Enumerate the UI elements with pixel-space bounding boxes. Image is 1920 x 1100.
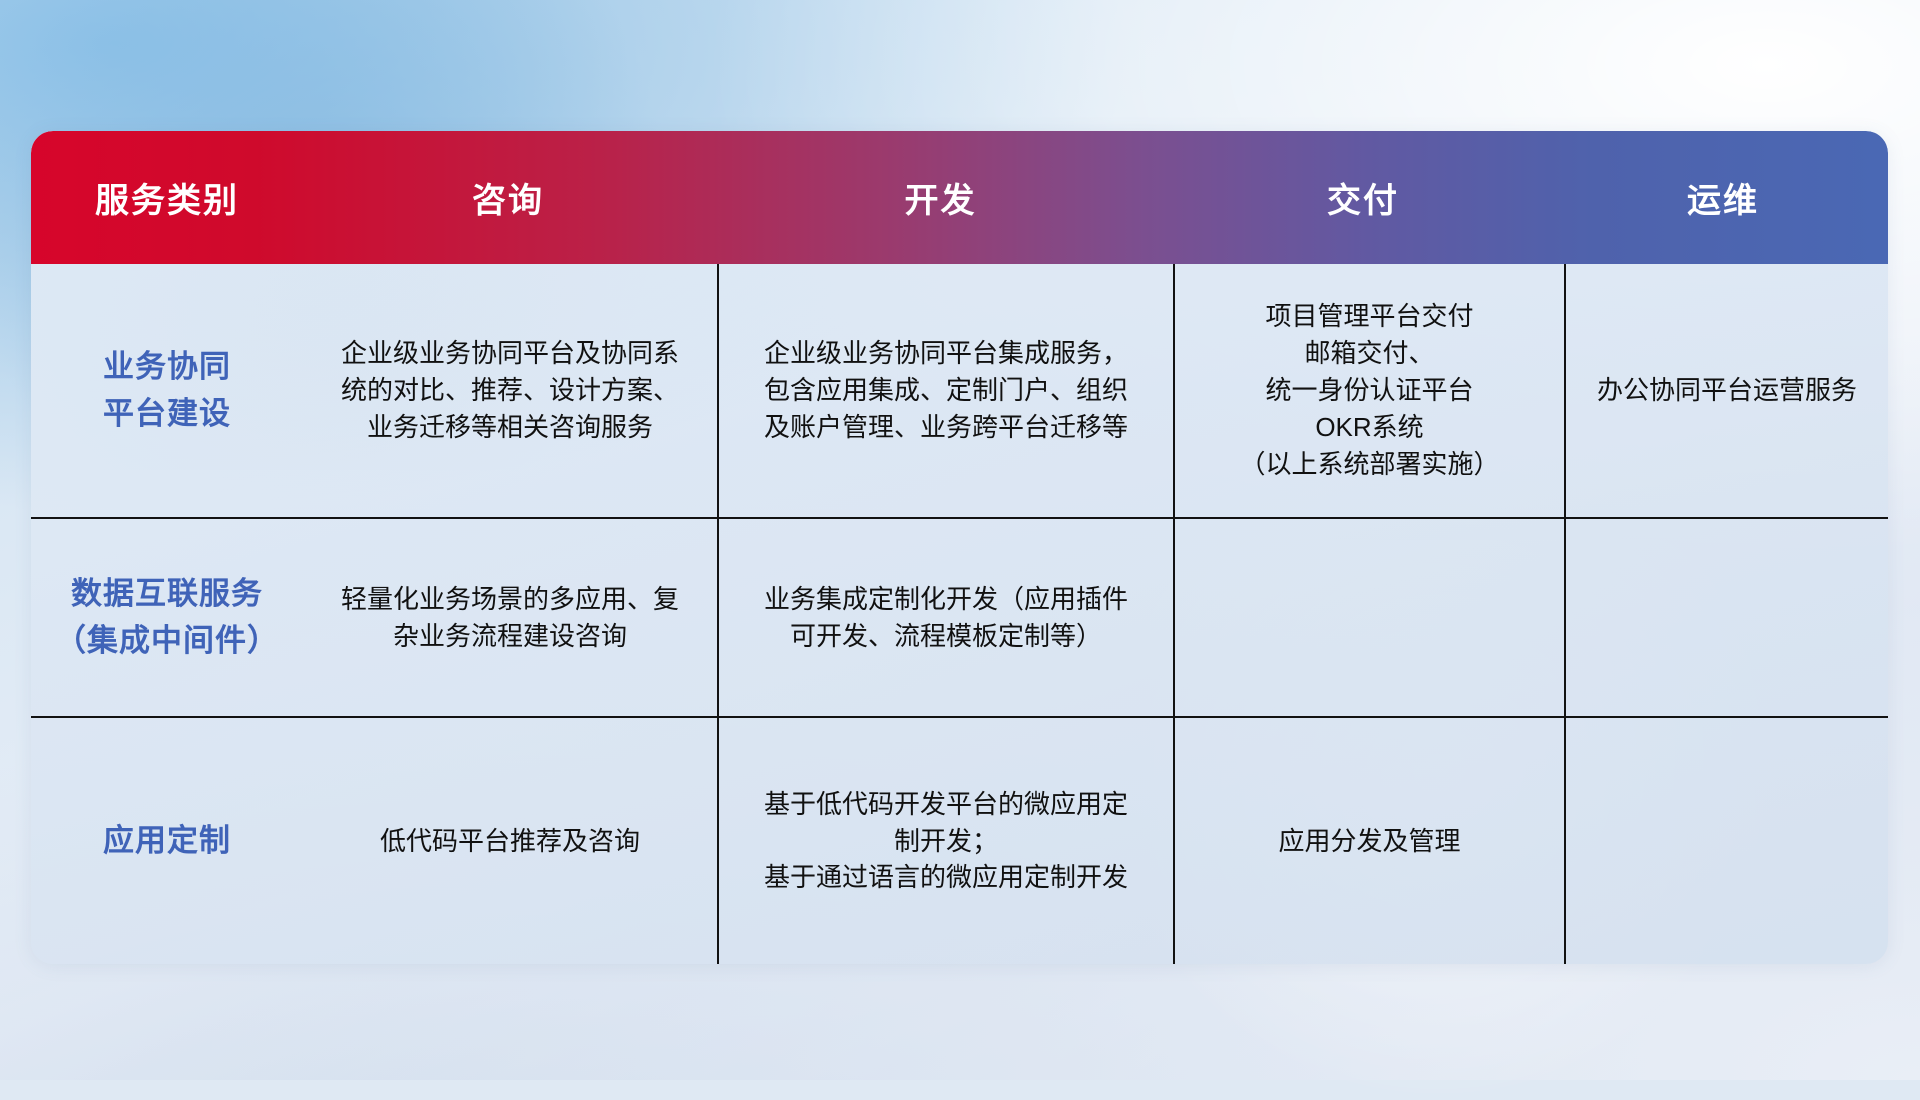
table-body: 业务协同 平台建设 企业级业务协同平台及协同系 统的对比、推荐、设计方案、 业务…: [31, 264, 1888, 964]
cell-row2-consulting: 轻量化业务场景的多应用、复 杂业务流程建设咨询: [303, 519, 717, 716]
column-header-development: 开发: [713, 131, 1168, 264]
row-label-app-customization: 应用定制: [31, 718, 303, 964]
cell-row2-development: 业务集成定制化开发（应用插件 可开发、流程模板定制等）: [719, 519, 1173, 716]
slide-canvas: 服务类别 咨询 开发 交付 运维 业务协同 平台建设 企业级业务协同平台及协同系…: [0, 0, 1920, 1080]
cell-row3-operations: [1566, 718, 1888, 964]
column-header-category: 服务类别: [31, 131, 303, 264]
cell-row1-development: 企业级业务协同平台集成服务， 包含应用集成、定制门户、组织 及账户管理、业务跨平…: [719, 264, 1173, 517]
cell-row3-consulting: 低代码平台推荐及咨询: [303, 718, 717, 964]
column-header-delivery: 交付: [1168, 131, 1558, 264]
cell-row3-delivery: 应用分发及管理: [1175, 718, 1564, 964]
cell-row1-delivery: 项目管理平台交付 邮箱交付、 统一身份认证平台 OKR系统 （以上系统部署实施）: [1175, 264, 1564, 517]
column-header-consulting: 咨询: [303, 131, 713, 264]
service-matrix-table: 服务类别 咨询 开发 交付 运维 业务协同 平台建设 企业级业务协同平台及协同系…: [31, 131, 1888, 964]
cell-row1-consulting: 企业级业务协同平台及协同系 统的对比、推荐、设计方案、 业务迁移等相关咨询服务: [303, 264, 717, 517]
cell-row2-operations: [1566, 519, 1888, 716]
column-header-operations: 运维: [1558, 131, 1888, 264]
row-label-business-collaboration: 业务协同 平台建设: [31, 264, 303, 517]
cell-row3-development: 基于低代码开发平台的微应用定 制开发； 基于通过语言的微应用定制开发: [719, 718, 1173, 964]
row-label-data-interconnect: 数据互联服务 （集成中间件）: [31, 519, 303, 716]
cell-row1-operations: 办公协同平台运营服务: [1566, 264, 1888, 517]
cell-row2-delivery: [1175, 519, 1564, 716]
table-header-bar: 服务类别 咨询 开发 交付 运维: [31, 131, 1888, 264]
